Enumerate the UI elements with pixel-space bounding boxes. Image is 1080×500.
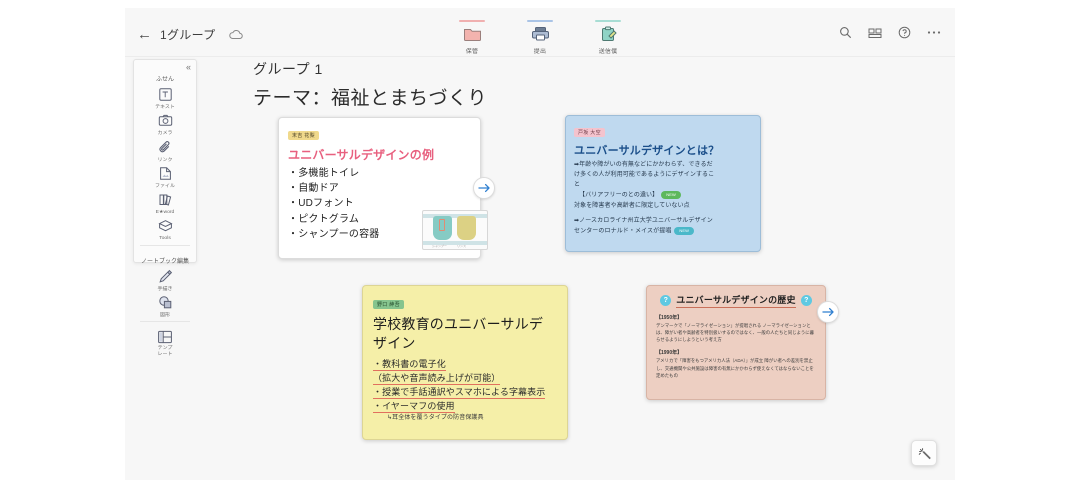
camera-icon (157, 112, 174, 129)
save-tool-label: 保管 (466, 46, 478, 54)
template-label-2: レート (157, 351, 172, 357)
body-text: センターのロナルド・メイスが提唱 (574, 229, 671, 235)
panel-section-notebook-title: ノートブック編集 (134, 256, 196, 265)
body-sub-line: 対象を障害者や高齢者に限定していない点 (574, 202, 752, 211)
send-tool-button[interactable]: 送信僕 (587, 20, 629, 55)
list-item: ・多機能トイレ (288, 166, 471, 181)
file-image-icon (157, 165, 174, 182)
card-next-arrow-history[interactable] (817, 301, 839, 323)
zoom-search-icon[interactable] (839, 26, 852, 39)
save-tool-button[interactable]: 保管 (451, 20, 493, 55)
image-caption-left: シャンプー (432, 244, 447, 248)
panel-section-sticky-title: ふせん (134, 74, 196, 83)
top-toolbar: ← 1グループ 保管 (125, 8, 955, 56)
new-badge: NEW (674, 227, 694, 235)
history-year-heading: 【1990年】 (656, 349, 816, 356)
more-options-icon[interactable] (927, 30, 941, 35)
sidebar-item-camera-label: カメラ (157, 130, 172, 136)
body-line: と (574, 181, 752, 190)
list-item-text: ・教科書の電子化 (373, 359, 446, 371)
card-title: ユニバーサルデザインの歴史 (676, 293, 795, 308)
body-line: ➡年齢や障がいの有無などにかかわらず、できるだ (574, 161, 752, 170)
sidebar-item-eduword-label: E★word (156, 209, 175, 215)
note-card-ud-definition[interactable]: 戸坂 大空 ユニバーサルデザインとは？ ➡年齢や障がいの有無などにかかわらず、で… (565, 115, 761, 252)
template-layout-icon (157, 328, 174, 345)
list-item-text: （拡大や音声読み上げが可能） (373, 373, 500, 385)
help-icon[interactable] (898, 26, 911, 39)
history-block: 【1950年】 デンマークで「ノーマライゼーション」が提唱される ノーマライゼー… (656, 314, 816, 343)
sidebar-item-handwrite[interactable]: 手描き (151, 268, 179, 292)
note-card-ud-history[interactable]: ? ユニバーサルデザインの歴史 ? 【1950年】 デンマークで「ノーマライゼー… (646, 285, 826, 400)
card-title: 学校教育のユニバーサルデザイン (373, 315, 557, 353)
save-tool-accent (459, 20, 485, 22)
panel-collapse-icon[interactable]: « (186, 62, 191, 72)
shampoo-bottle-right (457, 216, 476, 240)
sidebar-item-shape[interactable]: 図形 (151, 294, 179, 318)
card-next-arrow-examples[interactable] (473, 177, 495, 199)
sidebar-item-tools[interactable]: Tools (151, 217, 179, 241)
app-root: ← 1グループ 保管 (0, 0, 1080, 500)
list-item-text: ・授業で手話通訳やスマホによる字幕表示 (373, 387, 545, 399)
bottle-notch-mark (439, 219, 445, 231)
history-body: デンマークで「ノーマライゼーション」が提唱される ノーマライゼーションとは、障が… (656, 322, 816, 343)
note-card-ud-examples[interactable]: 末吉 花梨 ユニバーサルデザインの例 ・多機能トイレ ・自動ドア ・UDフォント… (278, 117, 481, 259)
question-badge-left: ? (660, 295, 671, 306)
template-button[interactable]: テンプ レート (134, 328, 196, 358)
history-body: アメリカで「障害をもつアメリカ人法（ADA）」が成立 障がい者への差別を禁止し、… (656, 357, 816, 378)
body-note-line: 【バリアフリーのとの違い】NEW (574, 191, 752, 201)
panel-divider-1 (140, 245, 190, 246)
panel-notebook-grid: 手描き 図形 (134, 268, 196, 319)
submit-tool-label: 提出 (534, 46, 546, 54)
sidebar-item-link-label: リンク (157, 157, 172, 163)
notebook-canvas[interactable]: « ふせん テキスト (125, 56, 955, 480)
list-item: ・イヤーマフの使用 (373, 400, 557, 414)
document-heading: グループ 1 テーマ：福祉とまちづくり (253, 59, 487, 110)
card-body: ➡年齢や障がいの有無などにかかわらず、できるだ け多くの人が利用可能であるように… (574, 161, 752, 237)
send-tool-label: 送信僕 (599, 46, 618, 54)
sidebar-item-text[interactable]: テキスト (151, 86, 179, 110)
history-block: 【1990年】 アメリカで「障害をもつアメリカ人法（ADA）」が成立 障がい者へ… (656, 349, 816, 378)
folder-icon (463, 24, 482, 44)
list-item-text: ・イヤーマフの使用 (373, 401, 455, 413)
shampoo-bottle-left (433, 216, 452, 240)
text-note-icon (157, 86, 174, 103)
sidebar-item-camera[interactable]: カメラ (151, 112, 179, 136)
list-item: （拡大や音声読み上げが可能） (373, 372, 557, 386)
question-badge-right: ? (801, 295, 812, 306)
shape-icon (157, 294, 174, 311)
pen-icon (157, 268, 174, 285)
sidebar-item-handwrite-label: 手描き (157, 286, 172, 292)
note-text: 【バリアフリーのとの違い】 (579, 193, 658, 199)
panel-sticky-grid: テキスト カメラ (134, 86, 196, 242)
layout-grid-icon[interactable] (868, 27, 882, 39)
center-tool-group: 保管 提出 (125, 20, 955, 55)
submit-tool-button[interactable]: 提出 (519, 20, 561, 55)
sidebar-item-file[interactable]: ファイル (151, 165, 179, 189)
sidebar-item-text-label: テキスト (155, 104, 175, 110)
list-item: ・授業で手話通訳やスマホによる字幕表示 (373, 386, 557, 400)
magic-wand-button[interactable] (911, 440, 937, 466)
body-line: け多くの人が利用可能であるようにデザインするこ (574, 171, 752, 180)
submit-tool-accent (527, 20, 553, 22)
send-tool-accent (595, 20, 621, 22)
sidebar-item-link[interactable]: リンク (151, 139, 179, 163)
left-tool-panel: « ふせん テキスト (133, 59, 197, 263)
sidebar-item-shape-label: 図形 (160, 312, 170, 318)
image-caption-right: リンス (457, 244, 466, 248)
list-item: ・自動ドア (288, 181, 471, 196)
history-year-heading: 【1950年】 (656, 314, 816, 321)
clipboard-pen-icon (599, 24, 618, 44)
sidebar-item-tools-label: Tools (159, 235, 171, 241)
list-item-sub: ↳耳全体を覆うタイプの防音保護具 (373, 414, 557, 423)
body-line-with-badge: センターのロナルド・メイスが提唱NEW (574, 227, 752, 237)
shampoo-bottles-image: シャンプー リンス (422, 210, 488, 250)
panel-divider-2 (140, 321, 190, 322)
sidebar-item-eduword[interactable]: E★word (151, 191, 179, 215)
card-author-tag: 末吉 花梨 (288, 131, 319, 140)
new-badge: NEW (661, 191, 681, 199)
page-title: テーマ：福祉とまちづくり (253, 83, 487, 110)
card-title: ユニバーサルデザインとは？ (574, 142, 752, 158)
card-title-row: ? ユニバーサルデザインの歴史 ? (656, 293, 816, 308)
paperclip-icon (157, 139, 174, 156)
toolbox-icon (157, 217, 174, 234)
note-card-school-ud[interactable]: 野口 紳吾 学校教育のユニバーサルデザイン ・教科書の電子化 （拡大や音声読み上… (362, 285, 568, 440)
sidebar-item-file-label: ファイル (155, 183, 175, 189)
books-icon (157, 191, 174, 208)
list-item: ・教科書の電子化 (373, 358, 557, 372)
printer-icon (531, 24, 550, 44)
top-right-tools (839, 26, 941, 39)
card-author-tag: 戸坂 大空 (574, 128, 605, 137)
card-title: ユニバーサルデザインの例 (288, 146, 471, 163)
card-author-tag: 野口 紳吾 (373, 300, 404, 309)
school-ud-list: ・教科書の電子化 （拡大や音声読み上げが可能） ・授業で手話通訳やスマホによる字… (373, 358, 557, 423)
body-line: ➡ノースカロライナ州立大学ユニバーサルデザイン (574, 217, 752, 226)
page-group-title: グループ 1 (253, 59, 487, 79)
